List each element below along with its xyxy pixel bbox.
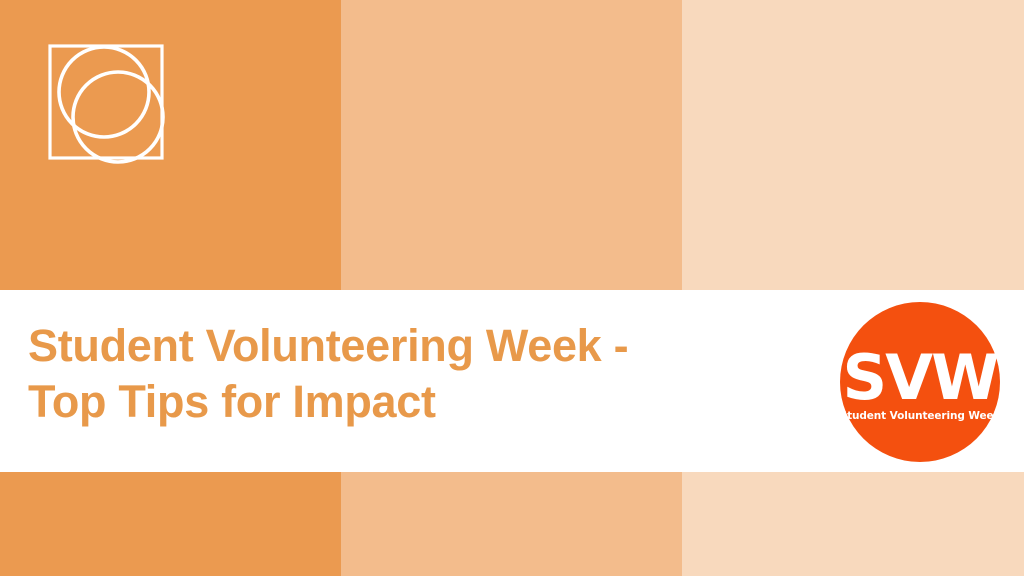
svw-logo-icon: SVW Student Volunteering Week [840, 302, 1000, 462]
svw-subtitle: Student Volunteering Week [840, 410, 1001, 422]
background-band-light [682, 0, 1024, 576]
background-band-medium [341, 0, 682, 576]
title-line-1: Student Volunteering Week - [28, 318, 818, 374]
page-title: Student Volunteering Week - Top Tips for… [28, 318, 818, 430]
square-with-two-overlapping-circles-icon [46, 42, 172, 168]
svw-initials: SVW [842, 349, 997, 407]
title-slide: Student Volunteering Week - Top Tips for… [0, 0, 1024, 576]
brand-mark [46, 42, 172, 168]
title-line-2: Top Tips for Impact [28, 374, 818, 430]
